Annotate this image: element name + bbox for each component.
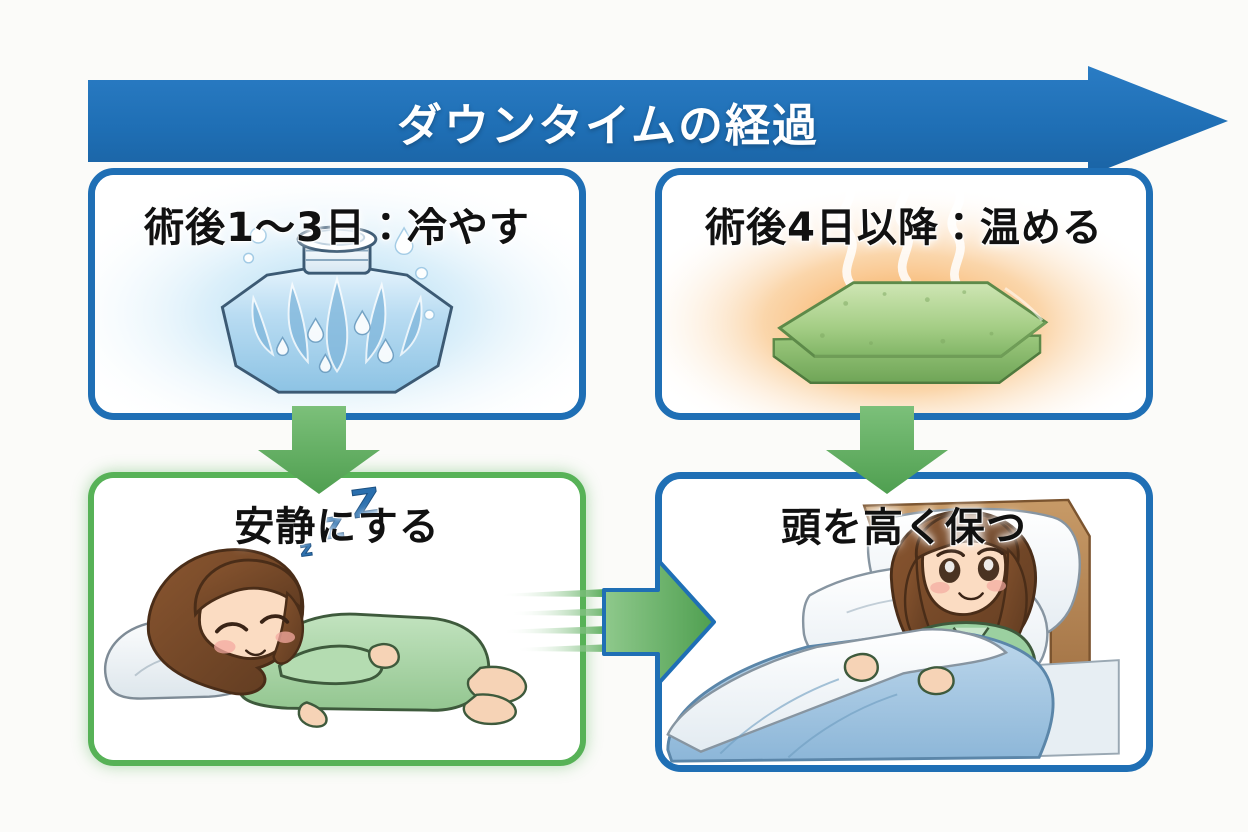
arrow-warm-to-head (822, 406, 952, 494)
arrow-rest-to-head (500, 556, 720, 688)
card-warm-phase[interactable]: 術後4日以降：温める (655, 168, 1153, 420)
card-head-label: 頭を高く保つ (662, 495, 1146, 553)
card-cold-label: 術後1〜3日：冷やす (95, 195, 579, 253)
infographic-canvas: ダウンタイムの経過 (0, 0, 1248, 832)
card-head-elevation[interactable]: 頭を高く保つ (655, 472, 1153, 772)
card-warm-label: 術後4日以降：温める (662, 195, 1146, 253)
card-cold-phase[interactable]: 術後1〜3日：冷やす (88, 168, 586, 420)
arrow-cold-to-rest (254, 406, 384, 494)
banner-title: ダウンタイムの経過 (88, 66, 1128, 176)
header-banner: ダウンタイムの経過 (88, 66, 1228, 176)
card-rest-label: 安静にする (94, 494, 580, 552)
